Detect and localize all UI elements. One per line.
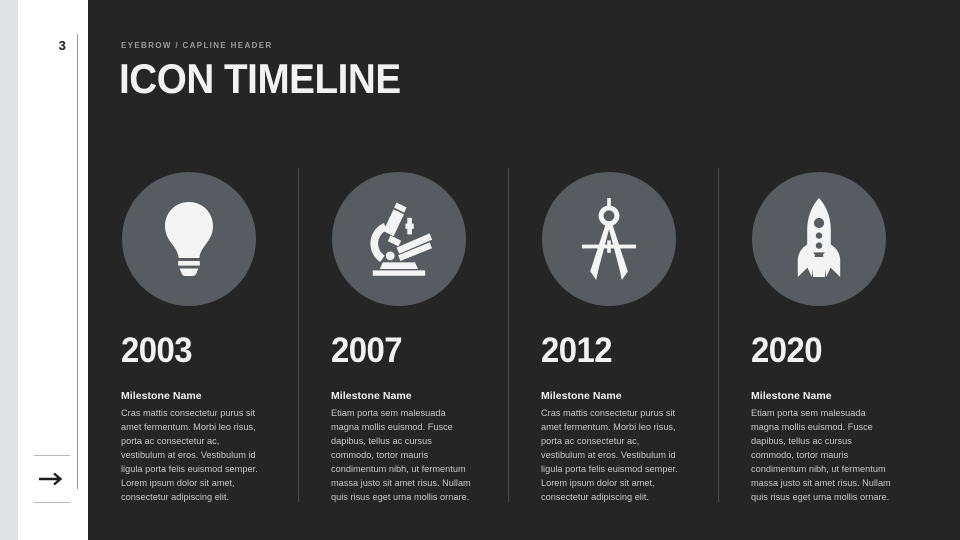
milestone-body: Cras mattis consectetur purus sit amet f… <box>121 407 265 505</box>
milestone-year: 2007 <box>331 333 466 368</box>
left-edge-strip <box>0 0 18 540</box>
timeline-item: 2003 Milestone Name Cras mattis consecte… <box>88 168 298 502</box>
timeline-columns: 2003 Milestone Name Cras mattis consecte… <box>88 168 960 502</box>
timeline-item: 2007 Milestone Name Etiam porta sem male… <box>298 168 508 502</box>
rocket-icon <box>786 197 852 281</box>
microscope-icon <box>360 199 438 279</box>
milestone-name: Milestone Name <box>541 390 685 402</box>
lightbulb-icon <box>158 200 220 278</box>
icon-badge <box>542 172 676 306</box>
milestone-name: Milestone Name <box>121 390 265 402</box>
slide-stage: EYEBROW / CAPLINE HEADER ICON TIMELINE 2… <box>88 0 960 540</box>
icon-badge <box>332 172 466 306</box>
arrow-right-icon <box>39 472 65 486</box>
page-number: 3 <box>18 38 66 53</box>
milestone-year: 2020 <box>751 333 886 368</box>
icon-badge <box>752 172 886 306</box>
milestone-name: Milestone Name <box>331 390 475 402</box>
next-slide-button[interactable] <box>34 455 70 503</box>
sidebar-vertical-rule <box>77 34 78 489</box>
timeline-item: 2012 Milestone Name Cras mattis consecte… <box>508 168 718 502</box>
milestone-year: 2012 <box>541 333 676 368</box>
milestone-body: Etiam porta sem malesuada magna mollis e… <box>751 407 895 505</box>
compass-divider-icon <box>571 197 647 281</box>
milestone-name: Milestone Name <box>751 390 895 402</box>
page-title: ICON TIMELINE <box>119 55 401 103</box>
milestone-body: Cras mattis consectetur purus sit amet f… <box>541 407 685 505</box>
icon-badge <box>122 172 256 306</box>
eyebrow-text: EYEBROW / CAPLINE HEADER <box>121 41 273 50</box>
milestone-body: Etiam porta sem malesuada magna mollis e… <box>331 407 475 505</box>
timeline-item: 2020 Milestone Name Etiam porta sem male… <box>718 168 928 502</box>
milestone-year: 2003 <box>121 333 256 368</box>
